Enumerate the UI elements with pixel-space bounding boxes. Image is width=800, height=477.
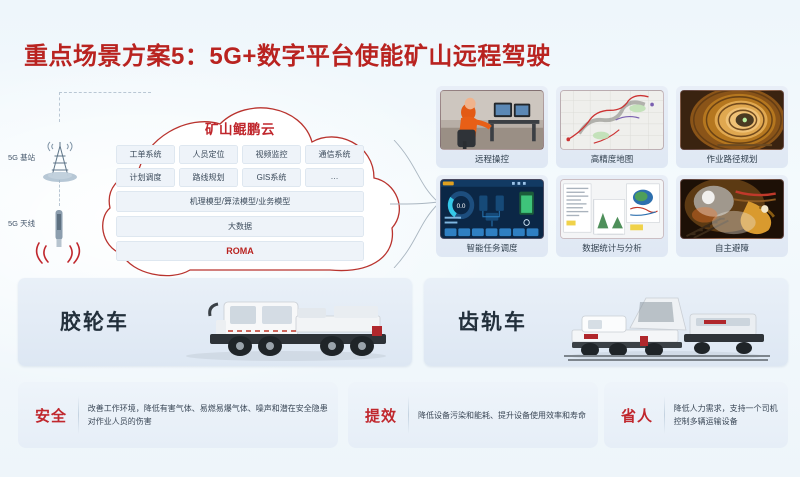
cloud-model-bar[interactable]: 机理模型/算法模型/业务模型 <box>116 191 364 212</box>
page-title: 重点场景方案5：5G+数字平台使能矿山远程驾驶 <box>24 36 551 71</box>
mine-cloud-platform: 矿山鲲鹏云 工单系统 人员定位 视频监控 通信系统 计划调度 路线规划 GIS系… <box>78 78 408 286</box>
cloud-bigdata-bar[interactable]: 大数据 <box>116 216 364 237</box>
cloud-chip[interactable]: GIS系统 <box>242 168 301 187</box>
cloud-chip[interactable]: 路线规划 <box>179 168 238 187</box>
cloud-chip[interactable]: 工单系统 <box>116 145 175 164</box>
capability-card-path-planning[interactable]: 作业路径规划 <box>676 86 788 168</box>
capability-card-obstacle-avoidance[interactable]: 自主避障 <box>676 175 788 257</box>
svg-text:0.0: 0.0 <box>457 203 466 210</box>
cloud-systems-row-1: 工单系统 人员定位 视频监控 通信系统 <box>116 145 364 164</box>
vehicle-panel-rack-rail[interactable]: 齿轨车 <box>424 278 788 366</box>
benefit-divider <box>78 396 79 434</box>
capability-label: 高精度地图 <box>560 150 664 168</box>
benefit-text: 降低人力需求，支持一个司机控制多辆运输设备 <box>674 402 788 428</box>
cloud-chip[interactable]: 通信系统 <box>305 145 364 164</box>
autonomous-obstacle-photo <box>680 179 784 239</box>
benefit-badge: 提效 <box>354 405 408 426</box>
cloud-systems-row-2: 计划调度 路线规划 GIS系统 … <box>116 168 364 187</box>
rack-rail-vehicle-photo <box>554 284 778 362</box>
benefit-card-labor-saving[interactable]: 省人 降低人力需求，支持一个司机控制多辆运输设备 <box>604 382 788 448</box>
vehicle-panel-rubber-tired[interactable]: 胶轮车 <box>18 278 412 366</box>
cloud-chip[interactable]: 人员定位 <box>179 145 238 164</box>
benefit-text: 改善工作环境，降低有害气体、易燃易爆气体、噪声和潜在安全隐患对作业人员的伤害 <box>88 402 338 428</box>
cloud-roma-bar[interactable]: ROMA <box>116 241 364 261</box>
hd-map-photo <box>560 90 664 150</box>
benefit-card-efficiency[interactable]: 提效 降低设备污染和能耗、提升设备使用效率和寿命 <box>348 382 598 448</box>
capability-label: 自主避障 <box>680 239 784 257</box>
capability-grid: 远程操控 <box>436 86 788 264</box>
remote-operator-photo <box>440 90 544 150</box>
mine-tunnel-photo <box>680 90 784 150</box>
cloud-chip[interactable]: 视频监控 <box>242 145 301 164</box>
benefit-text: 降低设备污染和能耗、提升设备使用效率和寿命 <box>418 409 594 422</box>
capability-row-1: 远程操控 <box>436 86 788 168</box>
capability-card-task-scheduling[interactable]: 0.0 <box>436 175 548 257</box>
cloud-content: 矿山鲲鹏云 工单系统 人员定位 视频监控 通信系统 计划调度 路线规划 GIS系… <box>116 118 364 265</box>
cloud-chip-more[interactable]: … <box>305 168 364 187</box>
vehicle-name: 齿轨车 <box>458 306 527 336</box>
capability-card-data-analytics[interactable]: 数据统计与分析 <box>556 175 668 257</box>
benefit-badge: 省人 <box>610 405 664 426</box>
hmi-dashboard-photo: 0.0 <box>440 179 544 239</box>
capability-label: 作业路径规划 <box>680 150 784 168</box>
capability-label: 远程操控 <box>440 150 544 168</box>
capability-card-hd-map[interactable]: 高精度地图 <box>556 86 668 168</box>
rubber-tired-vehicle-photo <box>166 286 402 362</box>
capability-card-remote-control[interactable]: 远程操控 <box>436 86 548 168</box>
capability-label: 智能任务调度 <box>440 239 544 257</box>
capability-label: 数据统计与分析 <box>560 239 664 257</box>
base-station-label: 5G 基站 <box>8 152 35 163</box>
cell-tower-icon <box>40 140 80 184</box>
benefit-divider <box>408 396 409 434</box>
benefit-card-safety[interactable]: 安全 改善工作环境，降低有害气体、易燃易爆气体、噪声和潜在安全隐患对作业人员的伤… <box>18 382 338 448</box>
benefit-divider <box>664 396 665 434</box>
vehicle-name: 胶轮车 <box>60 306 129 336</box>
analytics-report-photo <box>560 179 664 239</box>
capability-row-2: 0.0 <box>436 175 788 257</box>
benefit-badge: 安全 <box>24 405 78 426</box>
cloud-chip[interactable]: 计划调度 <box>116 168 175 187</box>
antenna-label: 5G 天线 <box>8 218 35 229</box>
slide-canvas: 重点场景方案5：5G+数字平台使能矿山远程驾驶 5G 基站 5G 天线 <box>0 0 800 477</box>
dashed-connector-up <box>59 92 60 122</box>
cloud-title: 矿山鲲鹏云 <box>116 118 364 138</box>
